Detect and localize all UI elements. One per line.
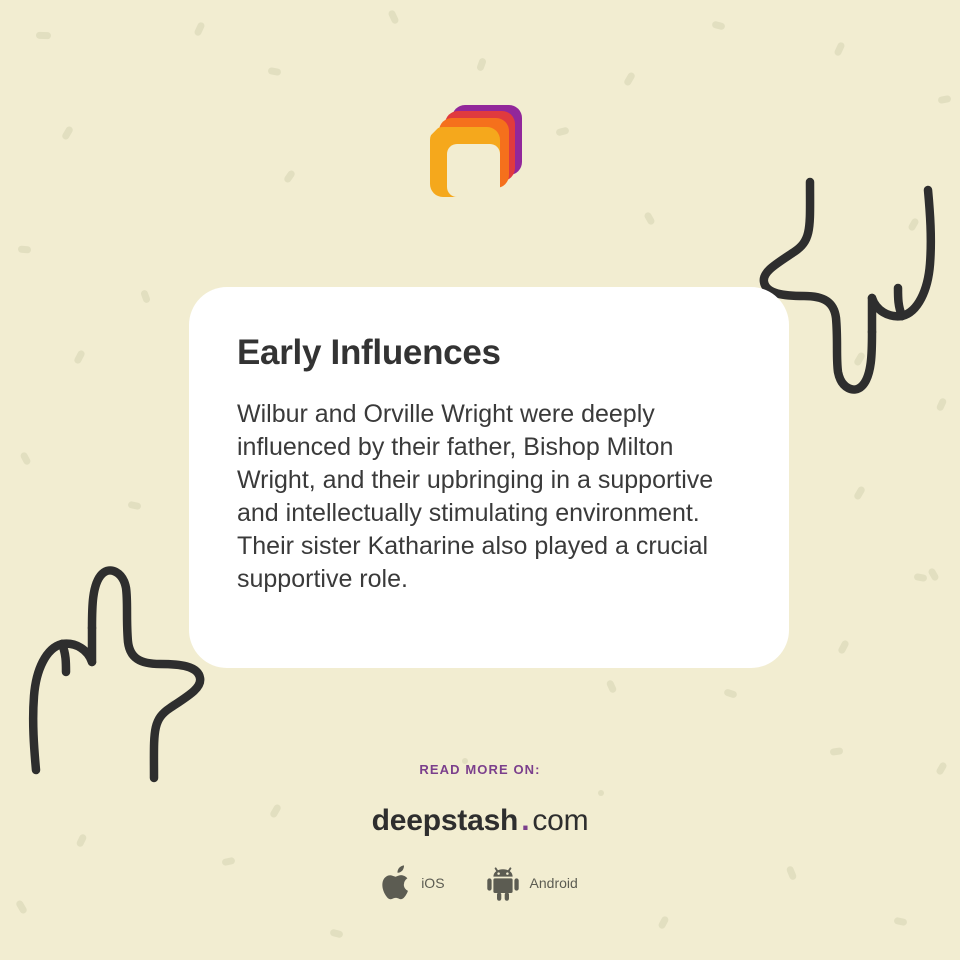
pointing-hand-icon	[18, 558, 218, 788]
confetti-speck	[476, 57, 487, 72]
deepstash-logo	[430, 105, 522, 197]
confetti-speck	[937, 95, 951, 104]
confetti-speck	[853, 351, 866, 367]
confetti-speck	[623, 71, 636, 87]
brand-name: deepstash	[372, 804, 519, 837]
ios-store-label: iOS	[421, 875, 444, 891]
confetti-speck	[830, 747, 844, 756]
content-card: Early Influences Wilbur and Orville Wrig…	[189, 287, 789, 668]
confetti-speck	[387, 9, 399, 25]
confetti-speck	[267, 67, 281, 76]
confetti-speck	[927, 567, 940, 582]
confetti-speck	[711, 20, 725, 30]
confetti-speck	[15, 899, 28, 915]
store-badges: iOS	[0, 865, 960, 901]
confetti-speck	[283, 169, 296, 184]
read-more-label: READ MORE ON:	[0, 762, 960, 777]
confetti-speck	[193, 21, 205, 37]
confetti-speck	[723, 688, 738, 699]
confetti-speck	[18, 245, 32, 253]
footer: READ MORE ON: deepstash.com iOS	[0, 762, 960, 901]
apple-icon	[382, 865, 412, 901]
confetti-speck	[73, 349, 86, 365]
confetti-speck	[166, 699, 178, 714]
android-store-label: Android	[530, 875, 578, 891]
confetti-speck	[555, 126, 569, 136]
confetti-speck	[837, 639, 850, 655]
confetti-speck	[329, 928, 343, 938]
confetti-speck	[140, 289, 151, 304]
brand-wordmark[interactable]: deepstash.com	[0, 804, 960, 838]
confetti-speck	[643, 211, 656, 226]
confetti-speck	[936, 397, 948, 412]
confetti-speck	[907, 217, 920, 232]
confetti-speck	[36, 32, 51, 40]
brand-tld: com	[532, 804, 588, 837]
confetti-speck	[913, 573, 927, 582]
ios-store-badge[interactable]: iOS	[382, 865, 444, 901]
android-icon	[485, 865, 521, 901]
confetti-speck	[657, 915, 669, 930]
confetti-speck	[606, 679, 618, 694]
confetti-speck	[61, 125, 74, 141]
card-body-text: Wilbur and Orville Wright were deeply in…	[237, 398, 737, 596]
page-title: Early Influences	[237, 333, 741, 373]
brand-dot: .	[521, 804, 529, 837]
logo-inner-cutout	[447, 144, 500, 197]
confetti-speck	[19, 451, 31, 466]
poster-canvas: Early Influences Wilbur and Orville Wrig…	[0, 0, 960, 960]
confetti-speck	[127, 501, 141, 511]
android-store-badge[interactable]: Android	[485, 865, 578, 901]
confetti-speck	[893, 917, 907, 927]
confetti-speck	[853, 485, 866, 501]
confetti-speck	[833, 41, 845, 57]
